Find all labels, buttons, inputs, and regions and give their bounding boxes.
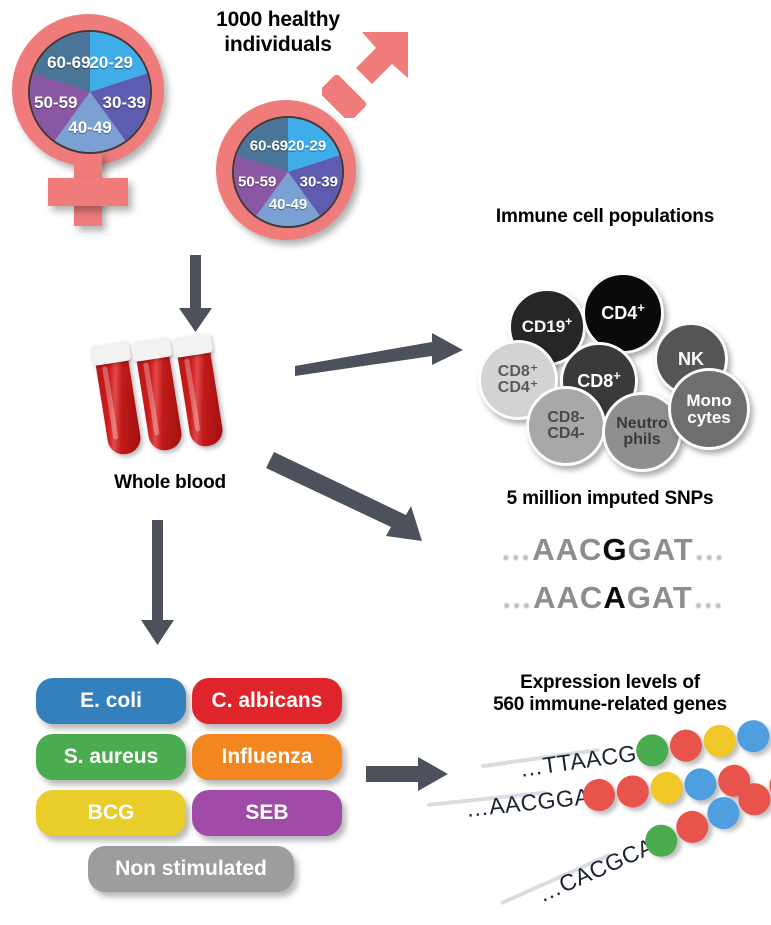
- dna-bead: [735, 718, 771, 754]
- dna-bead: [668, 728, 704, 764]
- dna-bead: [649, 770, 684, 805]
- expression-dna-group: …TTAACGG…AACGGAT…CACGCAA: [0, 0, 771, 922]
- dna-bead: [615, 774, 650, 809]
- dna-bead: [702, 723, 738, 759]
- dna-bead: [683, 767, 718, 802]
